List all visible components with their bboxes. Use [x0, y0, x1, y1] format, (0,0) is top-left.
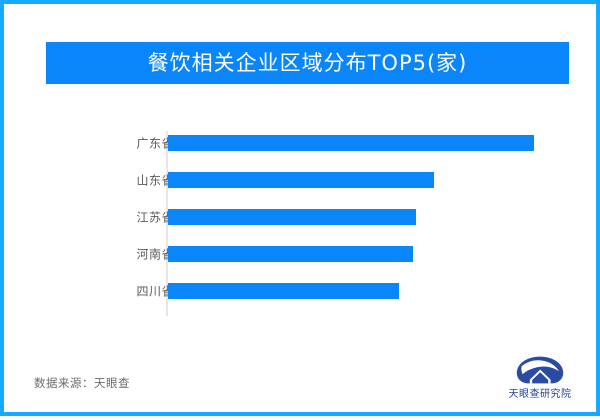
- bar: [168, 209, 416, 225]
- bar-row: 山东省: [46, 161, 546, 198]
- bar: [168, 172, 434, 188]
- bar-row: 四川省: [46, 272, 546, 309]
- bar: [168, 283, 399, 299]
- bar-row: 河南省: [46, 235, 546, 272]
- chart-title-banner: 餐饮相关企业区域分布TOP5(家): [46, 42, 569, 84]
- data-source-note: 数据来源：天眼查: [34, 375, 130, 391]
- bar-chart: 广东省山东省江苏省河南省四川省: [46, 124, 546, 319]
- bar: [168, 246, 413, 262]
- bar: [168, 135, 534, 151]
- chart-canvas: 餐饮相关企业区域分布TOP5(家) 广东省山东省江苏省河南省四川省 数据来源：天…: [4, 4, 600, 420]
- bar-row: 广东省: [46, 124, 546, 161]
- page-title: 餐饮相关企业区域分布TOP5(家): [148, 53, 468, 74]
- brand-logo: 天眼查研究院: [502, 356, 578, 402]
- tianyancha-eye-icon: [516, 356, 564, 384]
- brand-logo-label: 天眼查研究院: [502, 385, 578, 400]
- bar-row: 江苏省: [46, 198, 546, 235]
- chart-card-frame: 餐饮相关企业区域分布TOP5(家) 广东省山东省江苏省河南省四川省 数据来源：天…: [0, 0, 600, 416]
